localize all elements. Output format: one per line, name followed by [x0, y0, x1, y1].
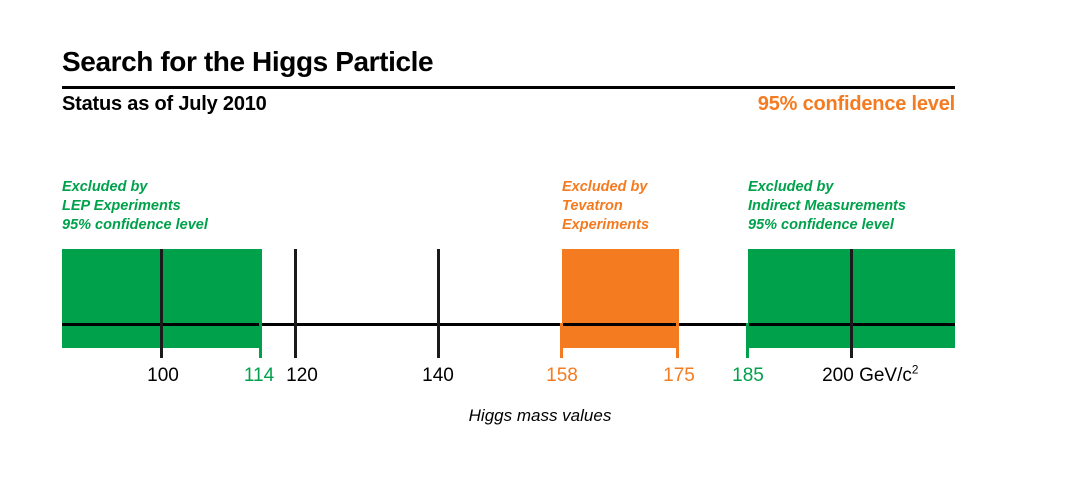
tick-label-120: 120 [286, 366, 318, 385]
tick-200 [850, 249, 853, 358]
mass-axis-line [62, 323, 955, 326]
tick-120 [294, 249, 297, 358]
tick-100 [160, 249, 163, 358]
tick-label-100: 100 [147, 366, 179, 385]
tick-label-158: 158 [546, 366, 578, 385]
tick-label-185: 185 [732, 366, 764, 385]
tick-114 [259, 323, 262, 358]
axis-caption: Higgs mass values [0, 406, 1080, 426]
tick-158 [560, 323, 563, 358]
tick-label-114: 114 [244, 366, 274, 385]
higgs-search-figure: Search for the Higgs Particle Status as … [0, 0, 1080, 478]
tick-label-175: 175 [663, 366, 695, 385]
tick-175 [676, 323, 679, 358]
excluded-band-tevatron [562, 249, 679, 348]
tick-label-200-exponent: 2 [912, 364, 919, 377]
tick-label-200-text: 200 GeV/c [822, 365, 912, 386]
tick-label-200: 200 GeV/c2 [822, 366, 918, 385]
tick-185 [746, 323, 749, 358]
plot-area: 100 114 120 140 158 175 185 200 GeV/c2 H… [0, 0, 1080, 478]
tick-140 [437, 249, 440, 358]
tick-label-140: 140 [422, 366, 454, 385]
